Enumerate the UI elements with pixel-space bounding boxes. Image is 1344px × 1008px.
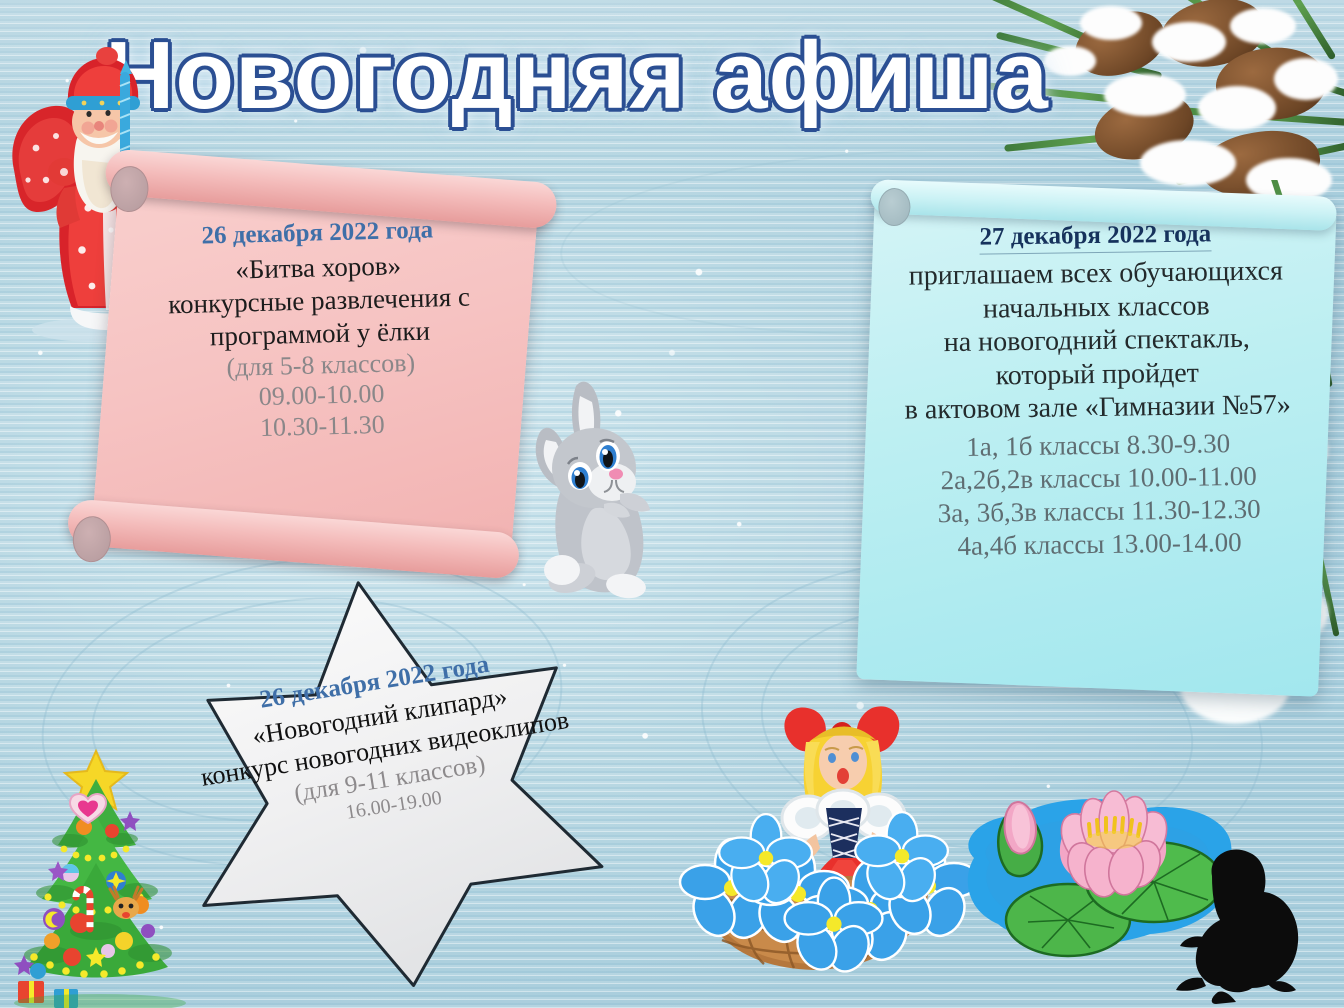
bunny-icon bbox=[516, 372, 686, 604]
event-line: в актовом зале «Гимназии №57» bbox=[878, 388, 1318, 428]
event-line: приглашаем всех обучающихся bbox=[876, 254, 1316, 294]
event-date: 27 декабря 2022 года bbox=[979, 220, 1211, 254]
frog-silhouette-icon bbox=[1172, 842, 1312, 1004]
schedule-row: 3а, 3б,3в классы 11.30-12.30 bbox=[879, 492, 1319, 531]
event-card-choir-battle[interactable]: 26 декабря 2022 года «Битва хоров» конку… bbox=[80, 123, 572, 588]
new-year-poster: Новогодняя афиша bbox=[0, 0, 1344, 1008]
page-title: Новогодняя афиша bbox=[105, 26, 1195, 127]
doll-in-flower-basket-icon bbox=[666, 700, 996, 975]
event-card-new-year-play[interactable]: 27 декабря 2022 года приглашаем всех обу… bbox=[852, 161, 1342, 699]
christmas-tree-icon bbox=[8, 745, 198, 1008]
schedule-row: 4а,4б классы 13.00-14.00 bbox=[879, 525, 1319, 564]
scroll-text-block: 26 декабря 2022 года «Битва хоров» конку… bbox=[117, 214, 523, 447]
card-text-block: 27 декабря 2022 года приглашаем всех обу… bbox=[875, 219, 1320, 564]
